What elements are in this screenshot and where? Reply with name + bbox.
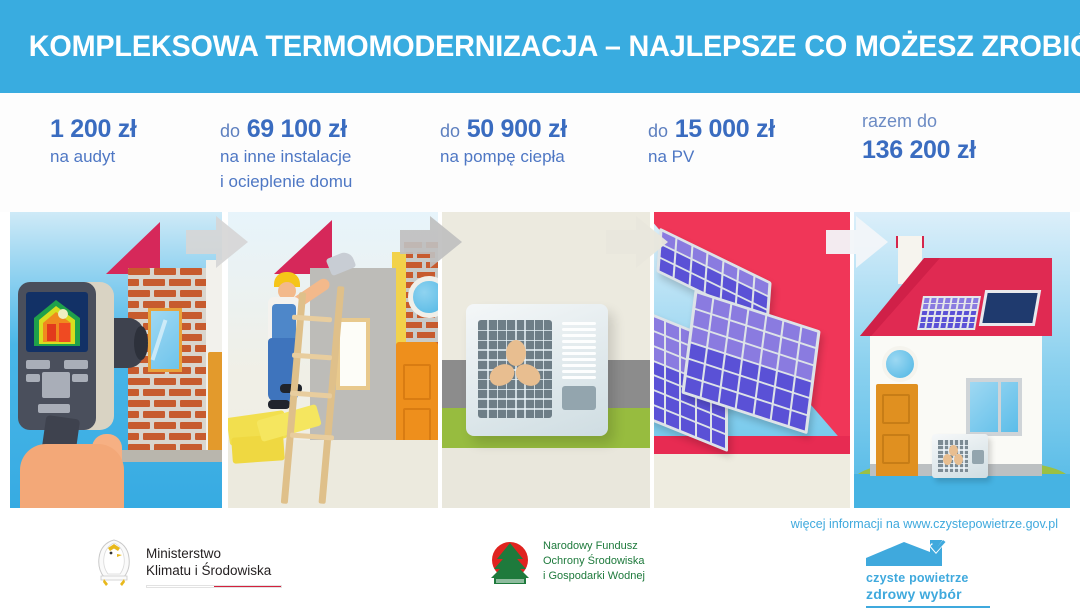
camera-button-4: [72, 374, 88, 382]
small-fan-blade-3: [954, 454, 963, 465]
house-door-panel-bottom: [882, 434, 910, 464]
worker-boot-1: [268, 400, 290, 409]
heat-pump-control-panel: [562, 386, 596, 410]
house-round-window-icon: [882, 346, 918, 382]
nfosigw-tree-icon: [486, 539, 534, 587]
house-door-icon: [876, 384, 918, 476]
step-value-audit: 1 200 zł: [50, 115, 137, 143]
polish-eagle-icon: [92, 536, 136, 588]
step-desc-insulation-line2: i ocieplenie domu: [220, 172, 352, 193]
insul-house-window-icon: [336, 318, 370, 390]
step-amount-heatpump: do 50 900 zł: [440, 115, 567, 143]
total-amount: 136 200 zł: [862, 136, 976, 164]
door-panel-bottom: [403, 408, 431, 444]
house-check-icon: [866, 540, 982, 566]
nfosigw-line-3: i Gospodarki Wodnej: [543, 569, 645, 584]
panel4-ground: [654, 454, 850, 508]
total-label: razem do 136 200 zł: [862, 111, 976, 164]
door-panel-top: [403, 364, 431, 400]
ministry-line-2: Klimatu i Środowiska: [146, 562, 271, 579]
thermal-image-icon: [30, 296, 84, 348]
header-bar: KOMPLEKSOWA TERMOMODERNIZACJA – NAJLEPSZ…: [0, 0, 1080, 93]
house-heat-pump-panel: [972, 450, 984, 464]
more-info-url[interactable]: więcej informacji na www.czystepowietrze…: [791, 517, 1058, 531]
logo-ministry: Ministerstwo Klimatu i Środowiska: [92, 536, 271, 588]
panel3-floor: [442, 448, 650, 508]
hand-icon: [20, 444, 124, 508]
heat-pump-vents-icon: [562, 322, 596, 380]
step-arrow-1-icon: [186, 216, 248, 282]
camera-button-3: [26, 374, 40, 382]
thermal-camera-screen-icon: [26, 292, 88, 352]
house-window-icon: [966, 378, 1022, 436]
house-heat-pump-fan-icon: [944, 446, 962, 464]
step-arrow-3-icon: [606, 216, 668, 282]
panel1-ground: [110, 450, 222, 462]
camera-button-2: [64, 360, 88, 369]
step-amount-insulation: do 69 100 zł: [220, 115, 352, 143]
brick-house-door-icon: [208, 352, 222, 452]
step-arrow-2-icon: [400, 216, 462, 282]
nfosigw-line-1: Narodowy Fundusz: [543, 539, 645, 554]
cp-line-1: czyste powietrze: [866, 571, 990, 586]
roof-pv-panel-icon: [917, 296, 981, 330]
panel5-ground: [854, 474, 1070, 508]
cp-line-2: zdrowy wybór: [866, 586, 990, 603]
step-label-pv: do 15 000 zł na PV: [648, 115, 775, 168]
logo-nfosigw: Narodowy Fundusz Ochrony Środowiska i Go…: [486, 539, 645, 587]
step-desc-heatpump-line1: na pompę ciepła: [440, 147, 567, 168]
illustration-strip: [0, 212, 1080, 508]
step-value-pv: 15 000 zł: [675, 115, 775, 143]
step-amount-audit: 1 200 zł: [50, 115, 137, 143]
small-fan-blade-2: [943, 454, 952, 465]
brick-house-roof-icon: [106, 222, 160, 274]
ministry-text: Ministerstwo Klimatu i Środowiska: [146, 545, 271, 580]
pv-roof-eave: [654, 436, 850, 456]
page-title: KOMPLEKSOWA TERMOMODERNIZACJA – NAJLEPSZ…: [0, 30, 1080, 64]
insulation-roll-2-icon: [231, 434, 285, 464]
step-arrow-4-icon: [826, 216, 888, 282]
ministry-flag-rule: [146, 585, 282, 588]
amount-labels-row: 1 200 zł na audyt do 69 100 zł na inne i…: [0, 93, 1080, 212]
house-door-panel-top: [882, 394, 910, 424]
camera-button-center: [42, 372, 70, 398]
solar-collector-icon: [979, 290, 1041, 326]
camera-button-5: [38, 404, 70, 413]
step-desc-audit-line1: na audyt: [50, 147, 137, 168]
step-label-heatpump: do 50 900 zł na pompę ciepła: [440, 115, 567, 168]
logo-czyste-powietrze: czyste powietrze zdrowy wybór: [866, 540, 990, 608]
nfosigw-line-2: Ochrony Środowiska: [543, 554, 645, 569]
step-prefix-heatpump: do: [440, 121, 460, 141]
total-prefix: razem do: [862, 111, 976, 133]
cp-underline: [866, 606, 990, 608]
ministry-line-1: Ministerstwo: [146, 545, 271, 562]
panel-photovoltaics: [654, 212, 850, 508]
insul-house-roof-icon: [274, 220, 332, 274]
collector-glass: [982, 293, 1037, 323]
step-value-insulation: 69 100 zł: [247, 115, 347, 143]
camera-button-1: [26, 360, 50, 369]
brick-house-window-icon: [148, 308, 182, 372]
step-label-audit: 1 200 zł na audyt: [50, 115, 137, 168]
step-desc-pv-line1: na PV: [648, 147, 775, 168]
fan-blade-1: [506, 340, 526, 366]
heat-pump-fan-icon: [492, 340, 540, 388]
step-label-insulation: do 69 100 zł na inne instalacje i ociepl…: [220, 115, 352, 192]
step-value-heatpump: 50 900 zł: [467, 115, 567, 143]
step-desc-insulation-line1: na inne instalacje: [220, 147, 352, 168]
step-prefix-insulation: do: [220, 121, 240, 141]
nfosigw-text: Narodowy Fundusz Ochrony Środowiska i Go…: [543, 539, 645, 584]
step-amount-pv: do 15 000 zł: [648, 115, 775, 143]
step-prefix-pv: do: [648, 121, 668, 141]
